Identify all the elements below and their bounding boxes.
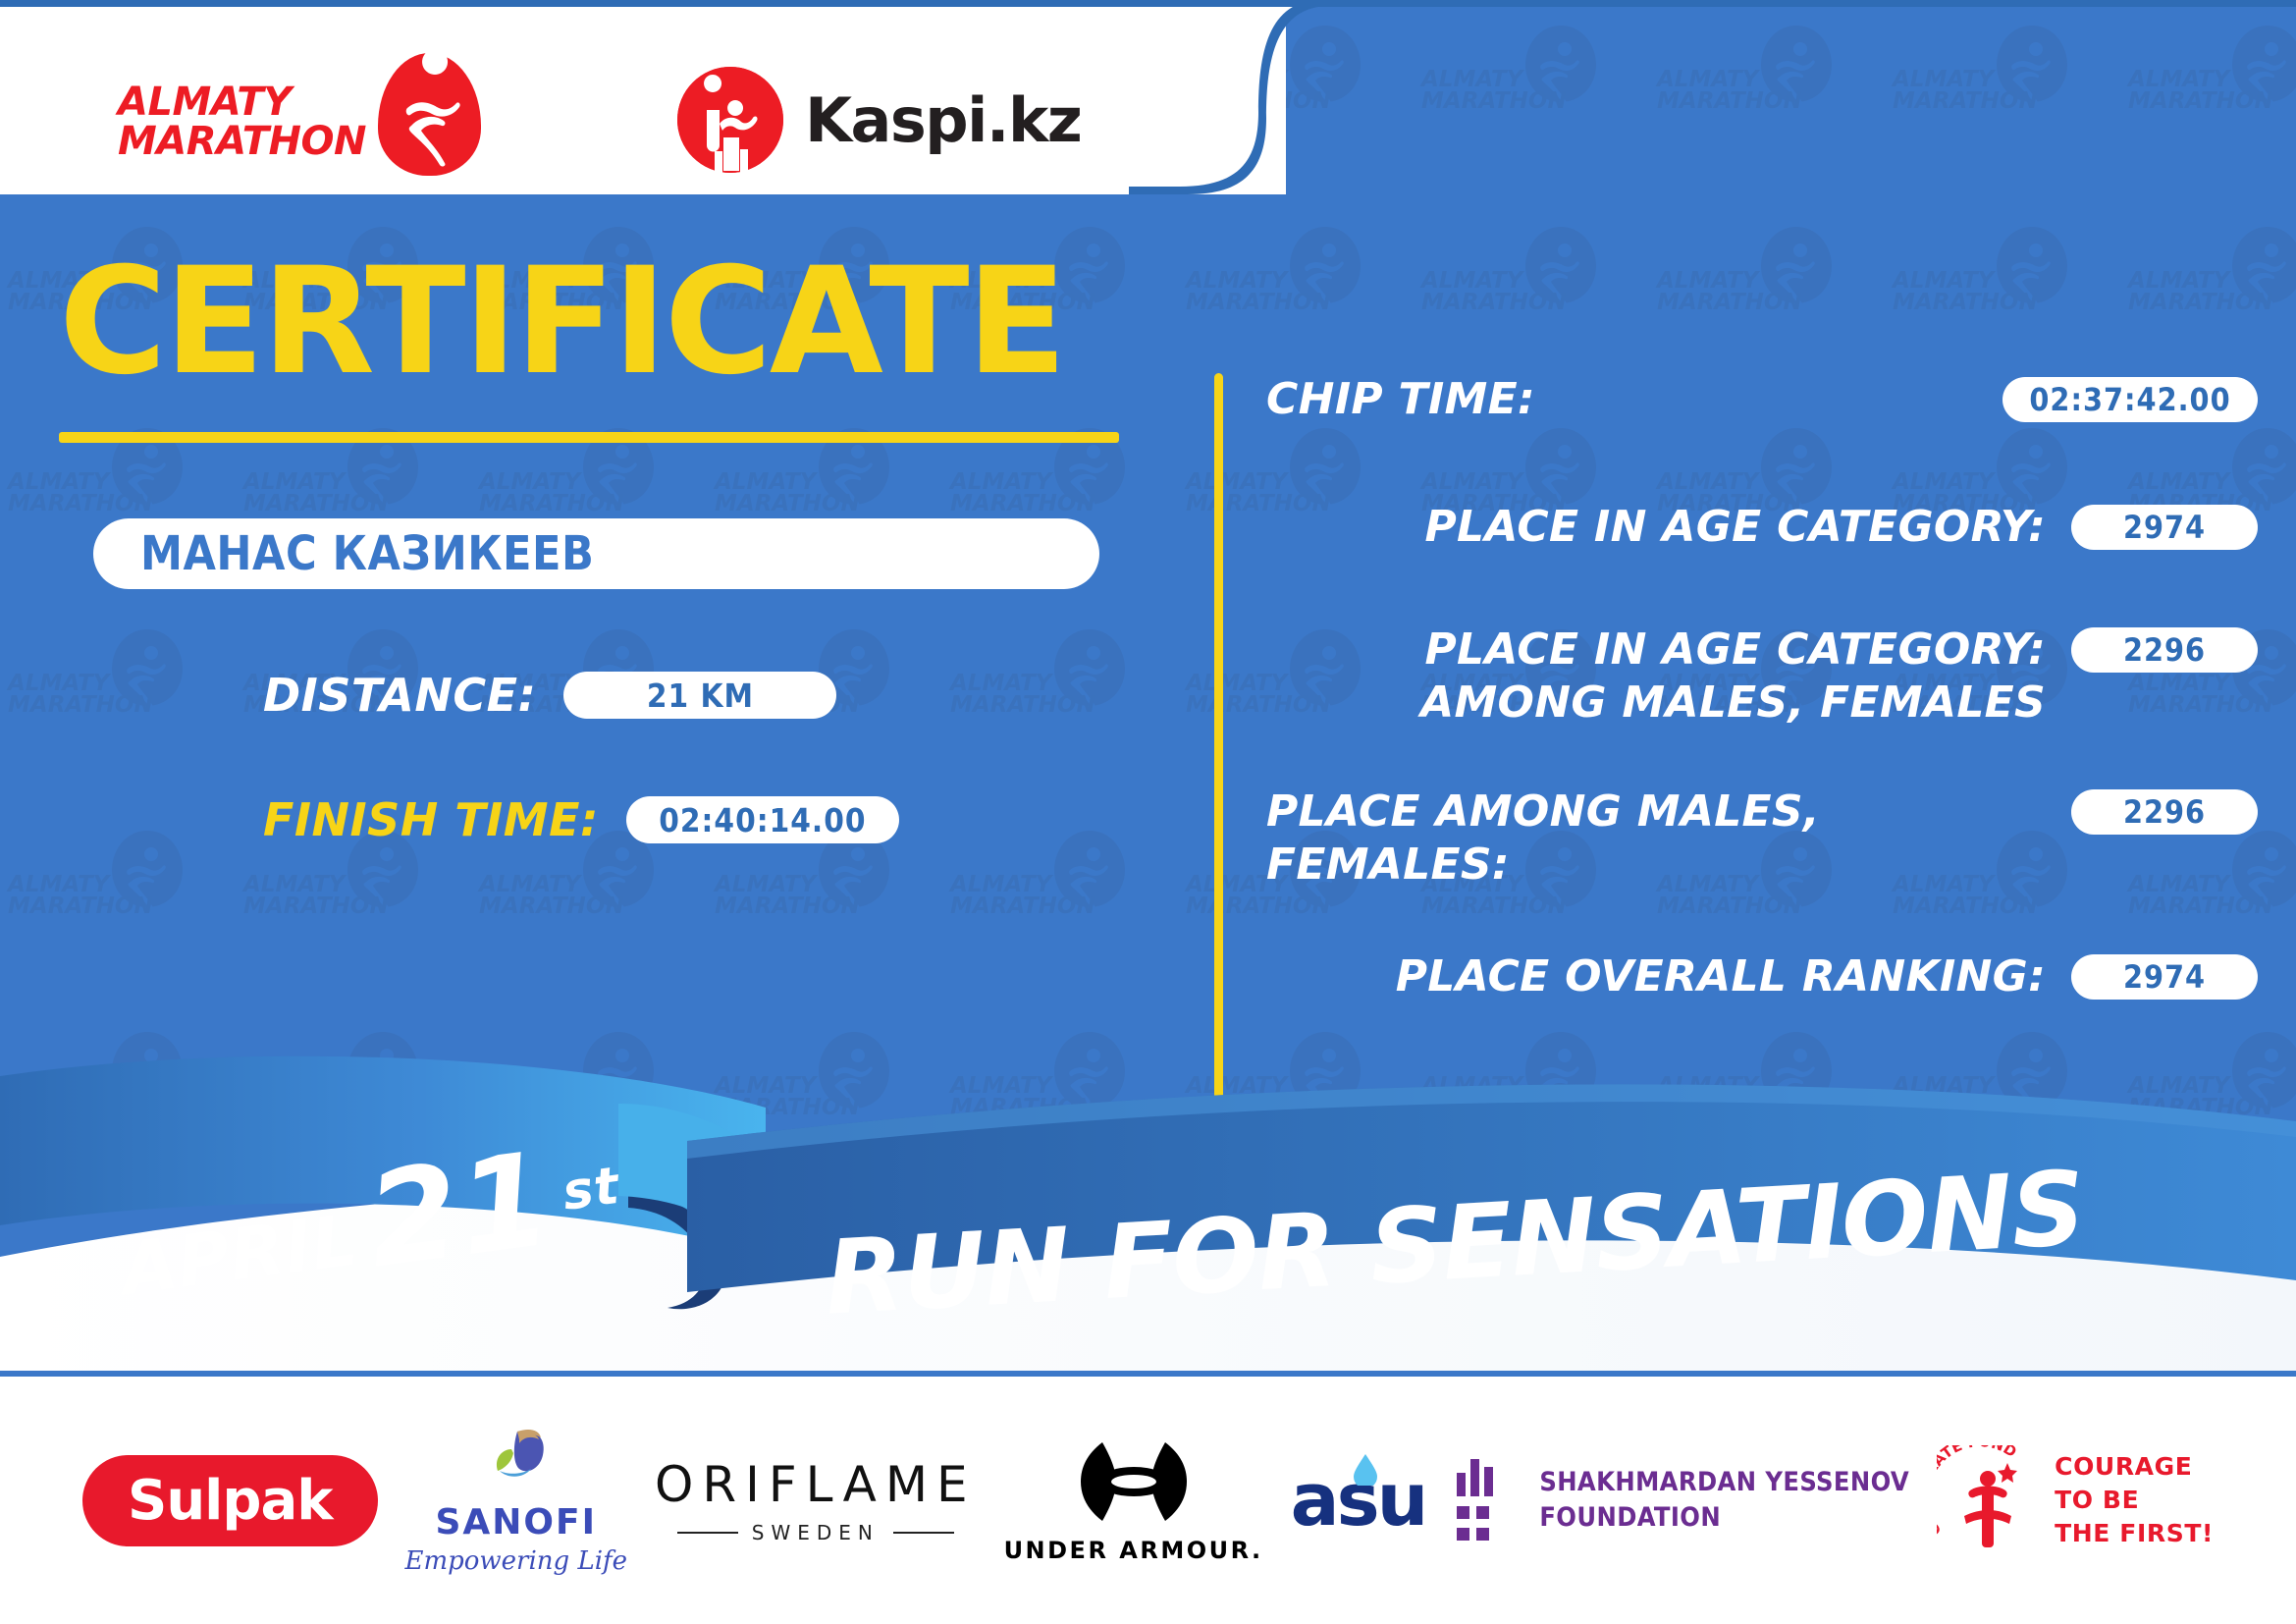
distance-value: 21 KM [647,677,754,715]
chip-time-label: CHIP TIME: [1266,373,1977,426]
finish-time-value-pill: 02:40:14.00 [626,796,899,843]
yessenov-mark-icon [1453,1453,1518,1547]
finish-time-label: FINISH TIME: [263,793,599,846]
runner-drop-icon [378,53,481,176]
place-among-value: 2296 [2123,793,2206,831]
sponsor-yessenov-foundation: SHAKHMARDAN YESSENOV FOUNDATION [1453,1453,1909,1547]
place-among-value-pill: 2296 [2071,789,2258,835]
yessenov-line-1: SHAKHMARDAN YESSENOV [1539,1465,1909,1500]
sponsor-courage-fund: CORPORATE FUND COURAGE TO BE THE FIRST! [1937,1445,2214,1555]
rule-right [893,1532,954,1534]
courage-text: COURAGE TO BE THE FIRST! [2055,1450,2214,1549]
place-overall-label: PLACE OVERALL RANKING: [1266,950,2046,1003]
under-armour-label: UNDER ARMOUR. [1004,1537,1263,1564]
sanofi-name: SANOFI [436,1502,598,1543]
courage-line-3: THE FIRST! [2055,1517,2214,1550]
athlete-name-value: МАНАС КАЗИКЕЕВ [140,526,594,581]
finish-time-value: 02:40:14.00 [659,801,866,839]
sponsor-sanofi: SANOFI Empowering Life [404,1426,627,1576]
athlete-name-field: МАНАС КАЗИКЕЕВ [93,518,1099,589]
label-line-1: PLACE IN AGE CATEGORY: [1266,623,2046,677]
courage-person-icon: CORPORATE FUND [1937,1445,2039,1555]
asu-droplet-icon [1352,1452,1379,1486]
courage-row: CORPORATE FUND COURAGE TO BE THE FIRST! [1937,1445,2214,1555]
finish-time-row: FINISH TIME: 02:40:14.00 [263,793,899,846]
label-line-2: AMONG MALES, FEMALES [1266,677,2046,730]
page-title: CERTIFICATE [59,248,1064,396]
logo-line-almaty: ALMATY [118,83,366,122]
oriflame-name: ORIFLAME [655,1456,977,1513]
stat-row-place-age-category: PLACE IN AGE CATEGORY: 2974 [1266,501,2258,554]
sponsor-strip: Sulpak SANOFI Empowering Life ORIFLAME S… [0,1377,2296,1624]
stat-row-place-overall: PLACE OVERALL RANKING: 2974 [1266,950,2258,1003]
header-slant-shape [1129,0,1541,285]
distance-value-pill: 21 KM [563,672,836,719]
certificate-canvas: ALMATY MARATHON Kaspi.kz [0,0,2296,1624]
chip-time-value-pill: 02:37:42.00 [2002,377,2258,422]
almaty-marathon-logo: ALMATY MARATHON [118,61,481,184]
place-age-category-value: 2974 [2123,509,2206,546]
stat-row-place-age-category-among: PLACE IN AGE CATEGORY: AMONG MALES, FEMA… [1266,623,2258,729]
oriflame-sub-row: SWEDEN [677,1521,954,1544]
place-overall-value-pill: 2974 [2071,954,2258,1000]
sanofi-mark-icon [478,1426,555,1496]
yessenov-text: SHAKHMARDAN YESSENOV FOUNDATION [1539,1465,1909,1537]
chip-time-value: 02:37:42.00 [2029,381,2230,418]
top-accent-line [0,0,2296,7]
distance-label: DISTANCE: [263,669,536,722]
courage-line-2: TO BE [2055,1484,2214,1517]
place-age-category-among-label: PLACE IN AGE CATEGORY: AMONG MALES, FEMA… [1266,623,2046,729]
stat-row-chip-time: CHIP TIME: 02:37:42.00 [1266,373,2258,426]
kaspi-logo: Kaspi.kz [677,67,1081,173]
place-overall-value: 2974 [2123,958,2206,996]
distance-row: DISTANCE: 21 KM [263,669,836,722]
sponsor-oriflame: ORIFLAME SWEDEN [655,1456,977,1544]
event-day: 21 [362,1145,558,1277]
oriflame-sub: SWEDEN [752,1521,880,1544]
asu-wordmark: asu [1291,1458,1426,1543]
place-age-category-among-value: 2296 [2123,631,2206,669]
almaty-marathon-wordmark: ALMATY MARATHON [118,83,366,160]
stat-row-place-among-males-females: PLACE AMONG MALES, FEMALES: 2296 [1266,785,2258,891]
yessenov-line-2: FOUNDATION [1539,1500,1909,1536]
logo-line-marathon: MARATHON [118,123,366,161]
yessenov-row: SHAKHMARDAN YESSENOV FOUNDATION [1453,1453,1909,1547]
sponsor-under-armour: UNDER ARMOUR. [1004,1436,1263,1564]
sulpak-label: Sulpak [128,1469,333,1533]
sponsor-sulpak: Sulpak [82,1455,378,1546]
under-armour-logo-icon [1067,1436,1201,1527]
sponsor-asu: asu [1291,1458,1426,1543]
sulpak-badge: Sulpak [82,1455,378,1546]
place-age-category-value-pill: 2974 [2071,505,2258,550]
rule-left [677,1532,738,1534]
sanofi-tagline: Empowering Life [404,1546,627,1576]
label-line-1: PLACE AMONG MALES, [1266,785,2046,839]
place-age-category-among-value-pill: 2296 [2071,627,2258,673]
kaspi-people-icon [677,67,783,173]
place-age-category-label: PLACE IN AGE CATEGORY: [1266,501,2046,554]
kaspi-wordmark: Kaspi.kz [805,84,1081,156]
courage-line-1: COURAGE [2055,1450,2214,1484]
label-line-2: FEMALES: [1266,839,2046,892]
title-underline [59,432,1119,443]
column-divider [1214,373,1223,1100]
place-among-label: PLACE AMONG MALES, FEMALES: [1266,785,2046,891]
